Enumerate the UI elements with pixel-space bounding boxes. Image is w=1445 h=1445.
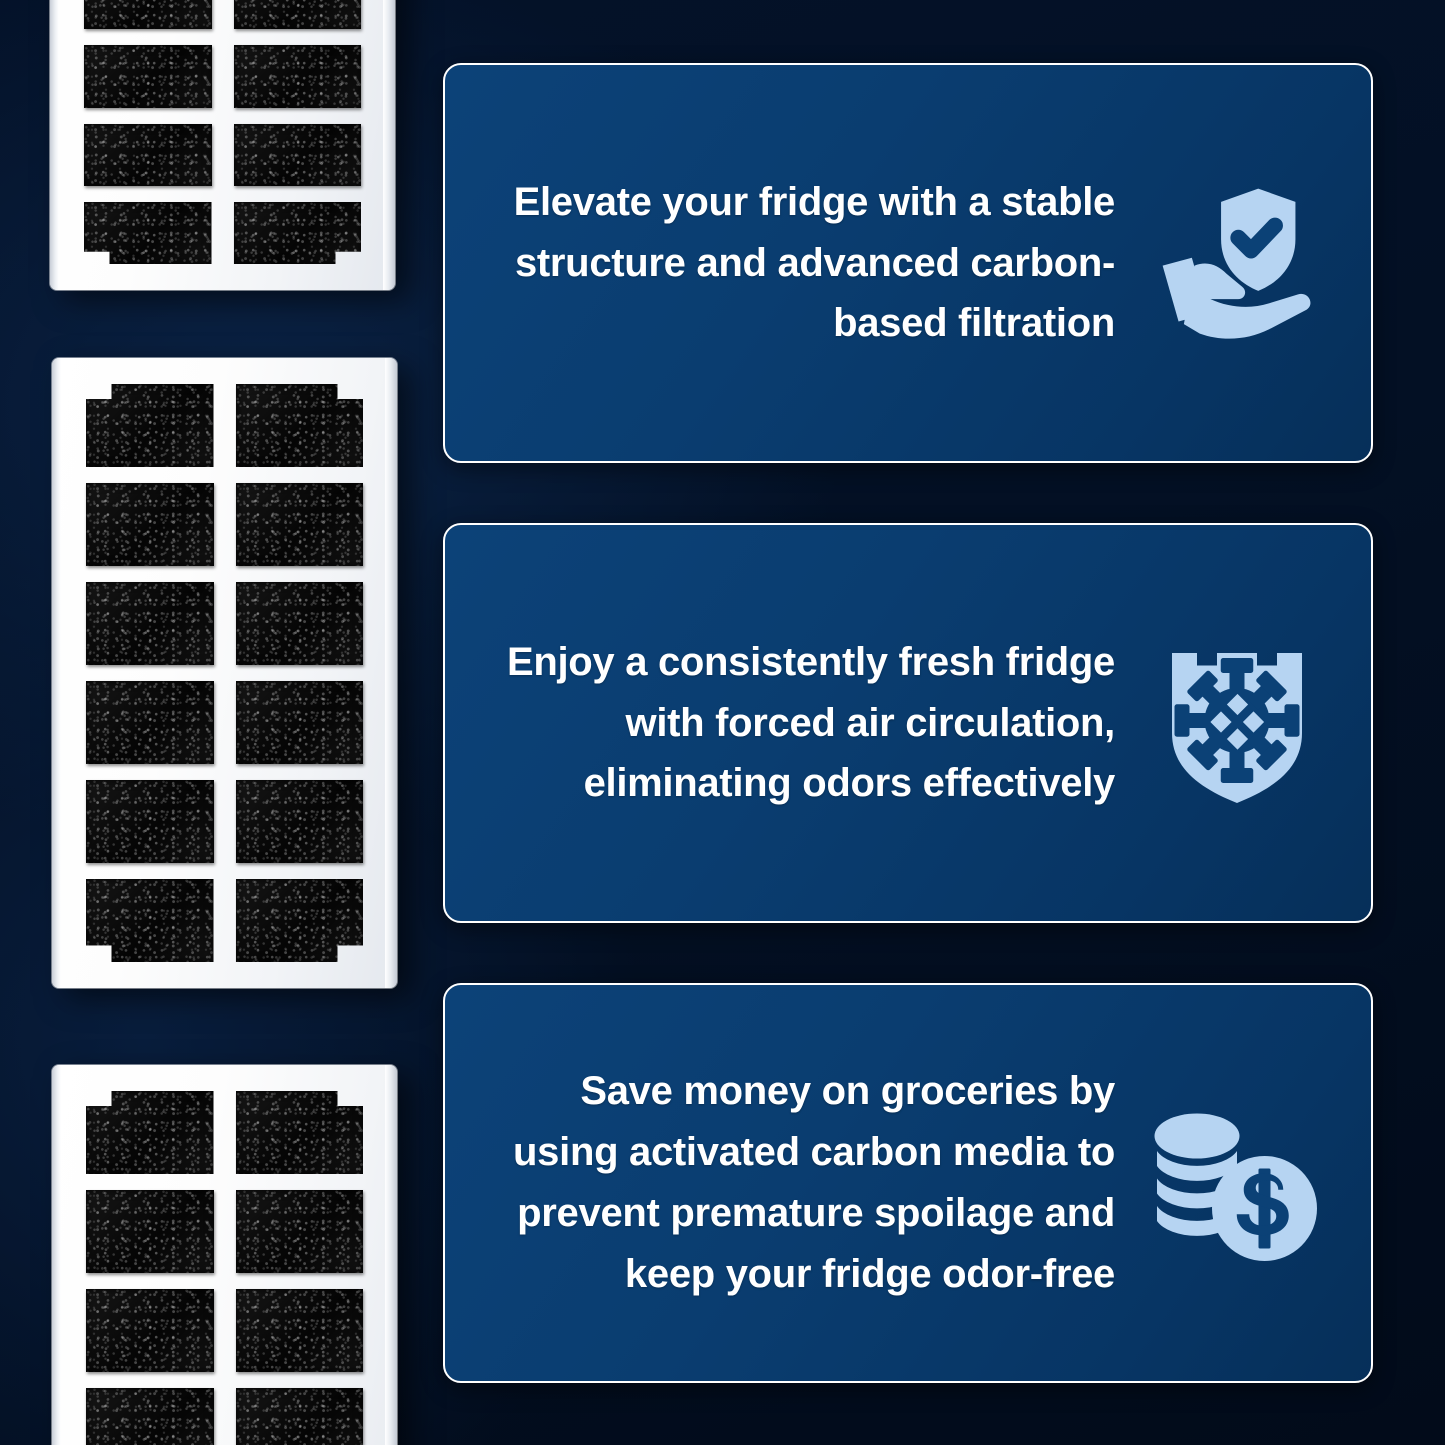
carbon-pad	[236, 1388, 364, 1445]
shield-virus-protection-icon	[1137, 638, 1337, 808]
carbon-pad	[84, 202, 212, 264]
feature-card-text: Elevate your fridge with a stable struct…	[499, 172, 1137, 354]
carbon-pad	[236, 1091, 364, 1174]
carbon-pad	[234, 202, 362, 264]
air-filter-cartridge-middle	[52, 358, 397, 988]
carbon-pad	[86, 582, 214, 665]
carbon-pad	[236, 384, 364, 467]
carbon-pad	[234, 45, 362, 107]
infographic-page: Elevate your fridge with a stable struct…	[0, 0, 1445, 1445]
carbon-pad	[86, 1388, 214, 1445]
carbon-pad	[236, 1289, 364, 1372]
carbon-pad	[86, 879, 214, 962]
air-filter-cartridge-top	[50, 0, 395, 290]
carbon-pad	[236, 681, 364, 764]
carbon-pad	[86, 1190, 214, 1273]
carbon-pad	[236, 780, 364, 863]
carbon-pad	[84, 0, 212, 29]
feature-card-save-money[interactable]: Save money on groceries by using activat…	[443, 983, 1373, 1383]
carbon-pad-grid	[86, 1091, 363, 1445]
carbon-pad	[84, 124, 212, 186]
hand-holding-shield-check-icon	[1137, 178, 1337, 348]
feature-card-list: Elevate your fridge with a stable struct…	[443, 63, 1373, 1383]
feature-card-air-circulation[interactable]: Enjoy a consistently fresh fridge with f…	[443, 523, 1373, 923]
carbon-pad	[86, 1289, 214, 1372]
carbon-pad-grid	[84, 0, 361, 264]
feature-card-text: Enjoy a consistently fresh fridge with f…	[499, 632, 1137, 814]
product-photo-column	[0, 0, 430, 1445]
carbon-pad	[86, 780, 214, 863]
carbon-pad	[86, 1091, 214, 1174]
carbon-pad	[234, 0, 362, 29]
carbon-pad	[236, 582, 364, 665]
feature-card-structure-filtration[interactable]: Elevate your fridge with a stable struct…	[443, 63, 1373, 463]
feature-card-text: Save money on groceries by using activat…	[499, 1061, 1137, 1304]
carbon-pad	[236, 1190, 364, 1273]
carbon-pad	[86, 483, 214, 566]
carbon-pad-grid	[86, 384, 363, 962]
carbon-pad	[234, 124, 362, 186]
carbon-pad	[236, 483, 364, 566]
carbon-pad	[86, 681, 214, 764]
carbon-pad	[236, 879, 364, 962]
coin-stack-dollar-icon	[1137, 1101, 1337, 1266]
carbon-pad	[86, 384, 214, 467]
air-filter-cartridge-bottom	[52, 1065, 397, 1445]
carbon-pad	[84, 45, 212, 107]
